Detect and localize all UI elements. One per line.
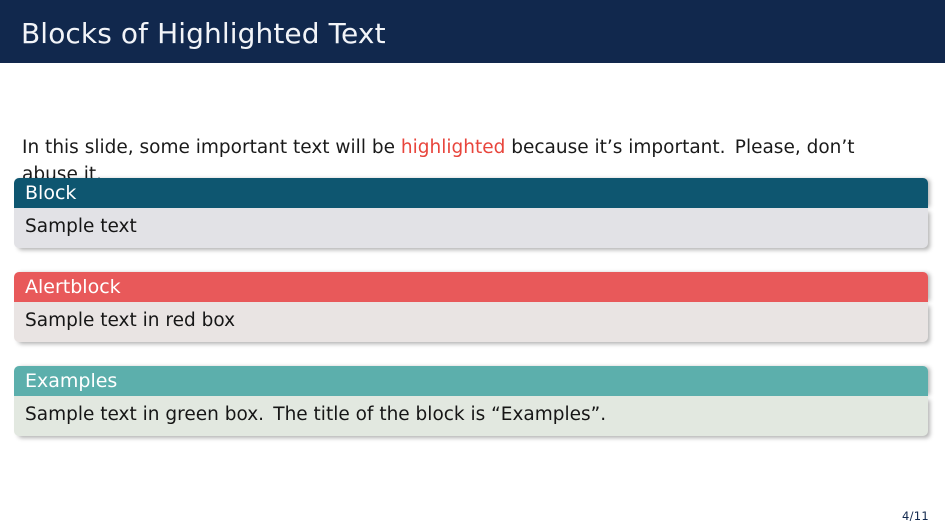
block-alert: Alertblock Sample text in red box xyxy=(14,272,928,342)
slide-title-bar: Blocks of Highlighted Text xyxy=(0,0,945,63)
block-standard-title: Block xyxy=(14,178,928,208)
slide-content-area: In this slide, some important text will … xyxy=(0,63,945,532)
block-example: Examples Sample text in green box. The t… xyxy=(14,366,928,436)
page-title: Blocks of Highlighted Text xyxy=(21,17,386,51)
block-alert-title: Alertblock xyxy=(14,272,928,302)
highlighted-word: highlighted xyxy=(401,137,505,158)
page-number-indicator: 4/11 xyxy=(902,509,929,523)
block-example-body: Sample text in green box. The title of t… xyxy=(14,396,928,436)
block-alert-body: Sample text in red box xyxy=(14,302,928,342)
block-example-title: Examples xyxy=(14,366,928,396)
block-standard: Block Sample text xyxy=(14,178,928,248)
block-standard-body: Sample text xyxy=(14,208,928,248)
intro-text-before: In this slide, some important text will … xyxy=(22,137,401,158)
